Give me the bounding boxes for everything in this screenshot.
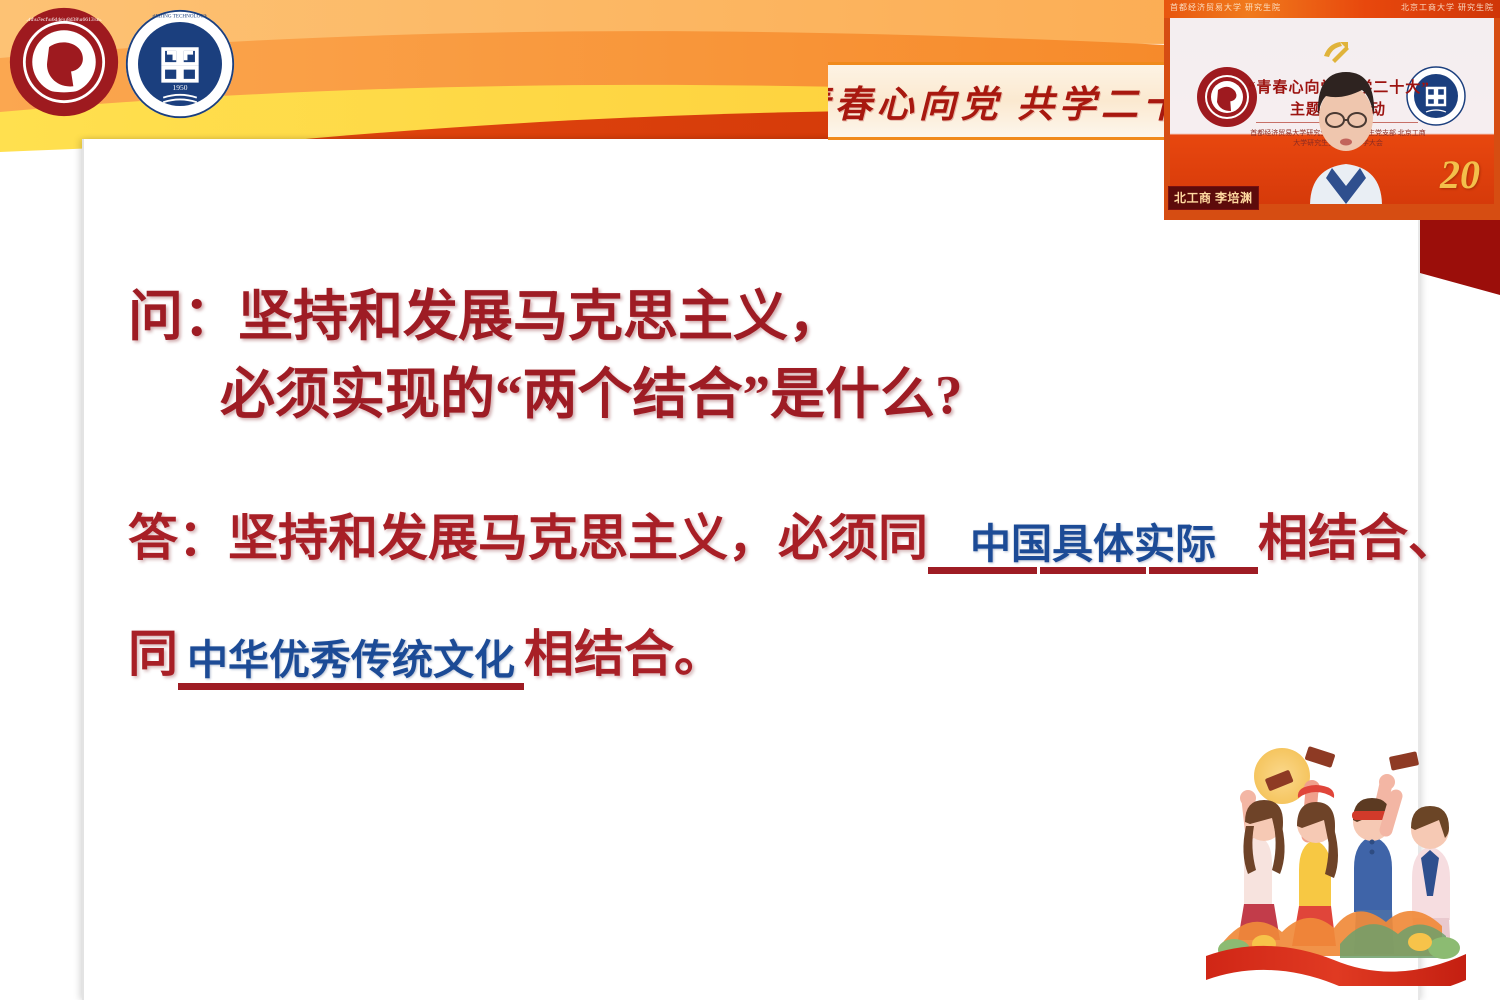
video-strip-left-text: 首都经济贸易大学 研究生院 [1170,2,1281,13]
question-line-2: 必须实现的“两个结合”是什么? [128,356,963,434]
event-banner-box: “青春心向党 共学二十大 [828,62,1168,140]
svg-text:BEIJING TECHNOLOGY: BEIJING TECHNOLOGY [152,13,208,19]
students-celebrating-graduation-illustration [1190,718,1480,986]
question-line-1: 问：坚持和发展马克思主义， [128,278,963,356]
video-frame: “青春心向党 共学二十大” 主题共学活动 首都经济贸易大学研究生党总支 · 研究… [1170,18,1494,204]
answer-block: 答：坚持和发展马克思主义，必须同 中国具体实际 相结合、 同 中华优秀传统文化 … [128,505,1458,687]
video-backdrop-badge-number: 20 [1440,151,1480,198]
question-block: 问：坚持和发展马克思主义， 必须实现的“两个结合”是什么? [128,278,963,434]
participant-name: 北工商 李培渊 [1174,191,1253,205]
red-wedge-shape [1420,215,1500,355]
answer-line-2: 同 中华优秀传统文化 相结合。 [128,621,1458,687]
slide-stage: “青春心向党 共学二十大 \u9996\u90fd\u7ecf\u6d4e\u8… [0,0,1500,1000]
answer-line-1-suffix: 相结合、 [1258,505,1458,571]
answer-blank-1: 中国具体实际 [928,517,1258,571]
answer-blank-1-text: 中国具体实际 [970,521,1216,567]
card-left-edge [82,139,84,1000]
answer-blank-2-underline [178,683,524,690]
beijing-technology-and-business-university-logo: 1950 BEIJING TECHNOLOGY [124,8,236,120]
answer-line-1: 答：坚持和发展马克思主义，必须同 中国具体实际 相结合、 [128,505,1458,571]
answer-blank-2-text: 中华优秀传统文化 [187,637,515,683]
participant-name-badge: 北工商 李培渊 [1168,186,1259,210]
answer-blank-2: 中华优秀传统文化 [178,633,524,687]
video-strip-right-text: 北京工商大学 研究生院 [1401,2,1494,13]
red-accent-wedge [1420,215,1500,355]
answer-line-1-prefix: 答：坚持和发展马克思主义，必须同 [128,505,928,571]
answer-line-2-suffix: 相结合。 [524,621,724,687]
video-participant-tile[interactable]: 首都经济贸易大学 研究生院 北京工商大学 研究生院 [1164,0,1500,220]
event-banner-title: “青春心向党 共学二十大 [828,74,1168,128]
answer-blank-1-underline [928,567,1258,574]
answer-line-2-prefix: 同 [128,621,178,687]
capital-university-of-economics-and-business-logo: \u9996\u90fd\u7ecf\u6d4e\u8d38\u6613\u59… [8,6,120,118]
svg-text:1950: 1950 [173,83,188,92]
participant-figure [1294,46,1398,204]
video-top-strip: 首都经济贸易大学 研究生院 北京工商大学 研究生院 [1164,0,1500,18]
